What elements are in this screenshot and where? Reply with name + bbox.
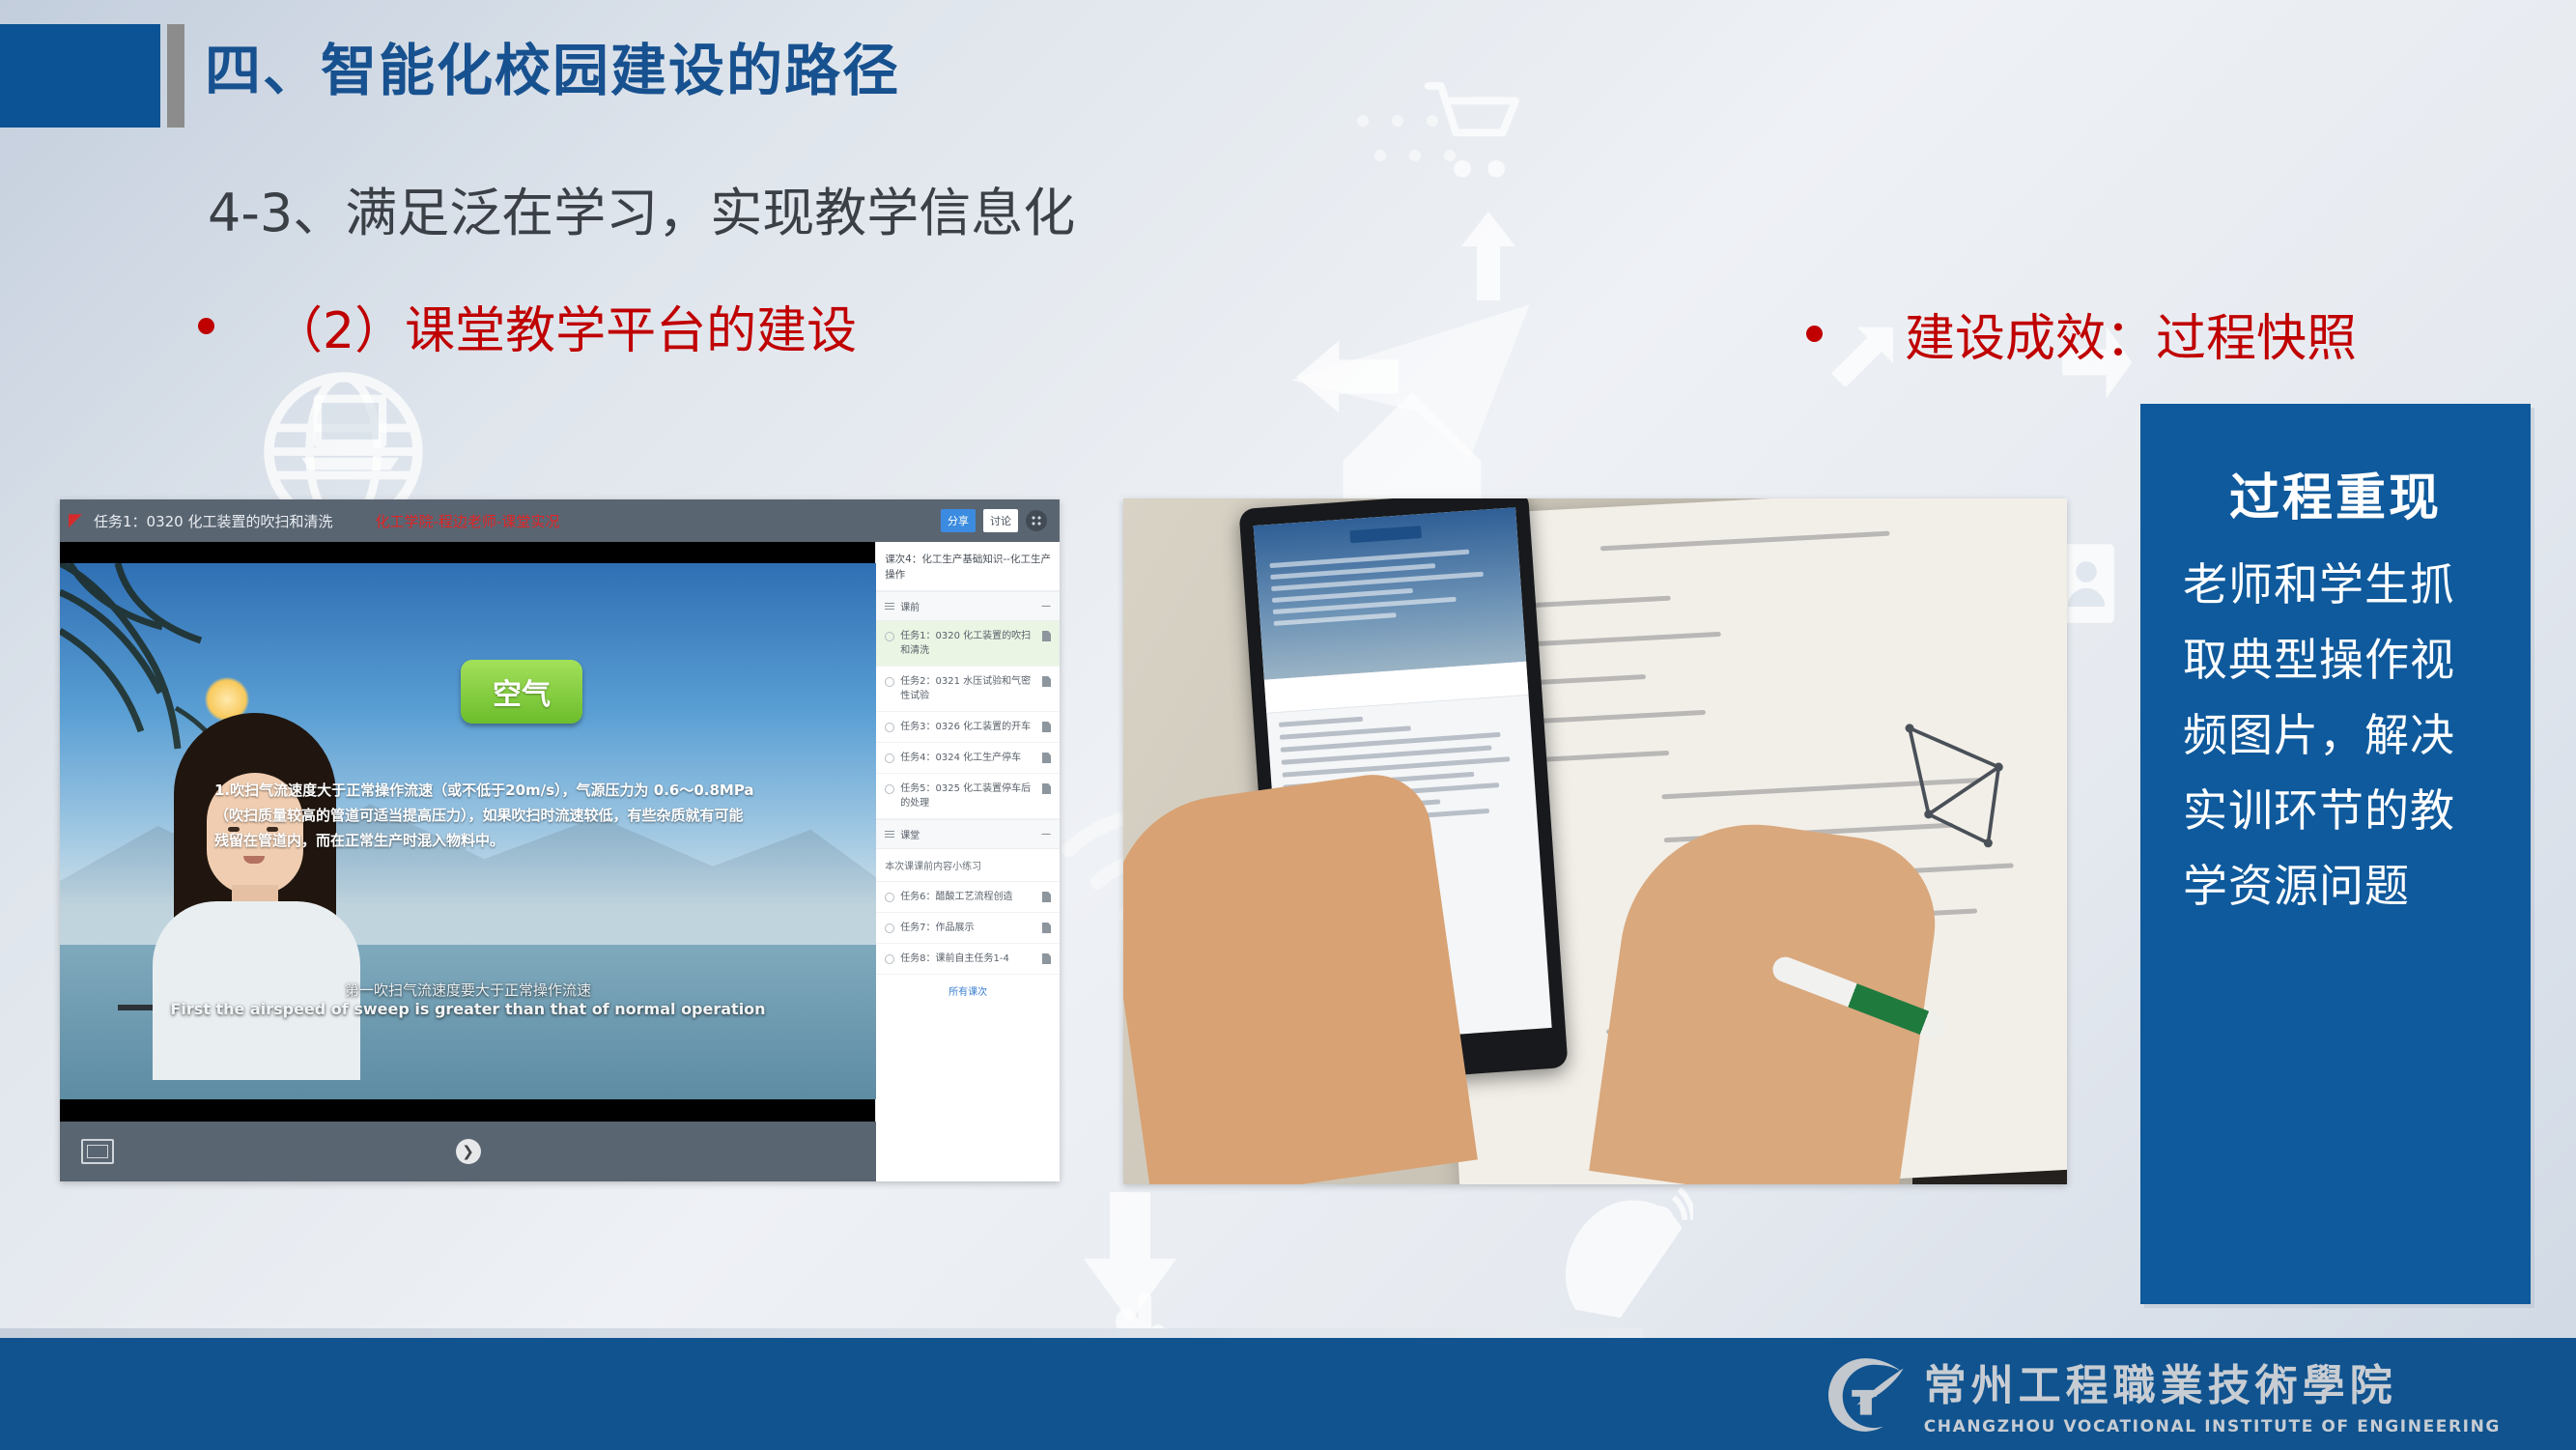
lms-task-title: 任务1：0320 化工装置的吹扫和清洗 xyxy=(94,511,333,531)
radio-icon[interactable] xyxy=(885,677,894,687)
all-sessions-link[interactable]: 所有课次 xyxy=(876,975,1060,1007)
bullet-dot-icon xyxy=(198,318,214,334)
bullet-right-label: 建设成效：过程快照 xyxy=(1905,298,2357,370)
radio-icon[interactable] xyxy=(885,723,894,732)
video-caption: 第一吹扫气流速度要大于正常操作流速 First the airspeed of … xyxy=(60,980,876,1018)
bullet-left: （2）课堂教学平台的建设 xyxy=(198,290,857,362)
discuss-button[interactable]: 讨论 xyxy=(983,509,1018,532)
fullscreen-icon[interactable] xyxy=(81,1139,114,1164)
list-item-label: 任务8：课前自主任务1-4 xyxy=(900,952,1036,966)
caption-chinese: 第一吹扫气流速度要大于正常操作流速 xyxy=(60,980,876,1000)
school-logo-icon xyxy=(1824,1353,1907,1436)
video-badge: 空气 xyxy=(461,660,582,724)
brand-text: 常州工程職業技術學院 CHANGZHOU VOCATIONAL INSTITUT… xyxy=(1924,1365,2501,1436)
panel-body: 老师和学生抓取典型操作视频图片，解决实训环节的教学资源问题 xyxy=(2140,541,2531,924)
list-icon xyxy=(885,831,894,839)
document-icon xyxy=(1042,753,1051,763)
lms-screenshot: ◤ 任务1：0320 化工装置的吹扫和清洗 化工学院-程边老师-课堂实况 分享 … xyxy=(60,499,1060,1181)
radio-icon[interactable] xyxy=(885,924,894,933)
lms-toolbar: ◤ 任务1：0320 化工装置的吹扫和清洗 化工学院-程边老师-课堂实况 分享 … xyxy=(60,499,1060,542)
document-icon xyxy=(1042,783,1051,794)
arrow-left-icon xyxy=(1294,333,1401,420)
bullet-right: 建设成效：过程快照 xyxy=(1806,298,2357,370)
list-item-label: 任务7：作品展示 xyxy=(900,921,1036,935)
caption-english: First the airspeed of sweep is greater t… xyxy=(60,1000,876,1018)
lms-toolbar-buttons: 分享 讨论 xyxy=(941,509,1051,532)
radio-icon[interactable] xyxy=(885,632,894,641)
shopping-cart-icon xyxy=(1420,75,1526,182)
document-icon xyxy=(1042,953,1051,964)
arrow-down-icon xyxy=(1072,1183,1188,1328)
satellite-dish-icon xyxy=(1553,1186,1693,1326)
title-accent-block xyxy=(0,24,160,128)
title-accent-bar xyxy=(167,24,184,128)
collapse-icon[interactable]: — xyxy=(1041,601,1051,611)
dots-grid-icon xyxy=(1348,106,1493,222)
document-icon xyxy=(1042,676,1051,687)
list-icon xyxy=(885,603,894,611)
paper-plane-icon xyxy=(1285,295,1536,469)
next-chevron-icon[interactable]: ❯ xyxy=(456,1139,481,1164)
section-label: 课堂 xyxy=(900,827,920,841)
list-item[interactable]: 任务8：课前自主任务1-4 xyxy=(876,944,1060,975)
list-item-label: 任务2：0321 水压试验和气密性试验 xyxy=(900,674,1036,703)
footer-strip xyxy=(0,1328,1642,1338)
list-item-label: 任务1：0320 化工装置的吹扫和清洗 xyxy=(900,629,1036,658)
section-header-pre[interactable]: 课前 — xyxy=(876,591,1060,621)
radio-icon[interactable] xyxy=(885,954,894,964)
lms-body: 空气 1.吹扫气流速度大于正常操作流速（或不低于20m/s），气源压力为 0.6… xyxy=(60,542,1060,1181)
phone-overlay-text xyxy=(1269,547,1509,633)
list-item-label: 任务4：0324 化工生产停车 xyxy=(900,751,1036,765)
highlight-panel: 过程重现 老师和学生抓取典型操作视频图片，解决实训环节的教学资源问题 xyxy=(2140,404,2531,1304)
radio-icon[interactable] xyxy=(885,753,894,763)
list-item[interactable]: 任务4：0324 化工生产停车 xyxy=(876,743,1060,774)
slide-root: 四、智能化校园建设的路径 4-3、满足泛在学习，实现教学信息化 （2）课堂教学平… xyxy=(0,0,2576,1450)
video-frame: 空气 1.吹扫气流速度大于正常操作流速（或不低于20m/s），气源压力为 0.6… xyxy=(60,563,876,1099)
document-icon xyxy=(1042,631,1051,641)
list-item[interactable]: 任务6：醋酸工艺流程创造 xyxy=(876,882,1060,913)
list-item[interactable]: 任务7：作品展示 xyxy=(876,913,1060,944)
list-item[interactable]: 任务1：0320 化工装置的吹扫和清洗 xyxy=(876,621,1060,667)
list-item[interactable]: 任务5：0325 化工装置停车后的处理 xyxy=(876,774,1060,819)
brand-name-cn: 常州工程職業技術學院 xyxy=(1924,1365,2397,1407)
document-icon xyxy=(1042,923,1051,933)
page-title: 四、智能化校园建设的路径 xyxy=(205,25,900,106)
lms-sidebar: 课次4：化工生产基础知识--化工生产操作 课前 — 任务1：0320 化工装置的… xyxy=(875,542,1060,1181)
page-subtitle: 4-3、满足泛在学习，实现教学信息化 xyxy=(208,170,1075,246)
phone-video-area xyxy=(1254,507,1526,680)
list-item[interactable]: 任务3：0326 化工装置的开车 xyxy=(876,712,1060,743)
brand-name-en: CHANGZHOU VOCATIONAL INSTITUTE OF ENGINE… xyxy=(1924,1417,2501,1436)
list-item-label: 任务5：0325 化工装置停车后的处理 xyxy=(900,782,1036,810)
left-hand xyxy=(1123,767,1478,1184)
section-header-class[interactable]: 课堂 — xyxy=(876,819,1060,849)
laptop-icon xyxy=(299,386,401,478)
classroom-photo xyxy=(1123,498,2067,1184)
course-name: 课次4：化工生产基础知识--化工生产操作 xyxy=(876,542,1060,591)
collapse-icon[interactable]: — xyxy=(1041,829,1051,839)
document-icon xyxy=(1042,892,1051,902)
radio-icon[interactable] xyxy=(885,784,894,794)
footer-bar: 常州工程職業技術學院 CHANGZHOU VOCATIONAL INSTITUT… xyxy=(0,1338,2576,1450)
radio-icon[interactable] xyxy=(885,893,894,902)
grid-menu-icon[interactable] xyxy=(1026,510,1047,531)
phone-title-bar xyxy=(1349,526,1422,543)
section-label: 课前 xyxy=(900,599,920,613)
panel-title: 过程重现 xyxy=(2140,457,2531,529)
brand: 常州工程職業技術學院 CHANGZHOU VOCATIONAL INSTITUT… xyxy=(1824,1353,2501,1436)
section-note: 本次课课前内容小练习 xyxy=(876,849,1060,882)
list-item-label: 任务6：醋酸工艺流程创造 xyxy=(900,890,1036,904)
lms-logo-icon: ◤ xyxy=(69,512,84,530)
document-icon xyxy=(1042,722,1051,732)
arrow-up-icon xyxy=(1454,208,1523,304)
share-button[interactable]: 分享 xyxy=(941,509,976,532)
video-player[interactable]: 空气 1.吹扫气流速度大于正常操作流速（或不低于20m/s），气源压力为 0.6… xyxy=(60,542,875,1181)
bullet-dot-icon xyxy=(1806,326,1823,342)
bullet-left-label: （2）课堂教学平台的建设 xyxy=(272,290,857,362)
sketch-diagram xyxy=(1880,708,2032,861)
list-item[interactable]: 任务2：0321 水压试验和气密性试验 xyxy=(876,667,1060,712)
video-paragraph: 1.吹扫气流速度大于正常操作流速（或不低于20m/s），气源压力为 0.6～0.… xyxy=(214,778,755,853)
lms-red-note: 化工学院-程边老师-课堂实况 xyxy=(376,511,560,531)
list-item-label: 任务3：0326 化工装置的开车 xyxy=(900,720,1036,734)
video-controls[interactable]: ❯ xyxy=(60,1122,876,1181)
